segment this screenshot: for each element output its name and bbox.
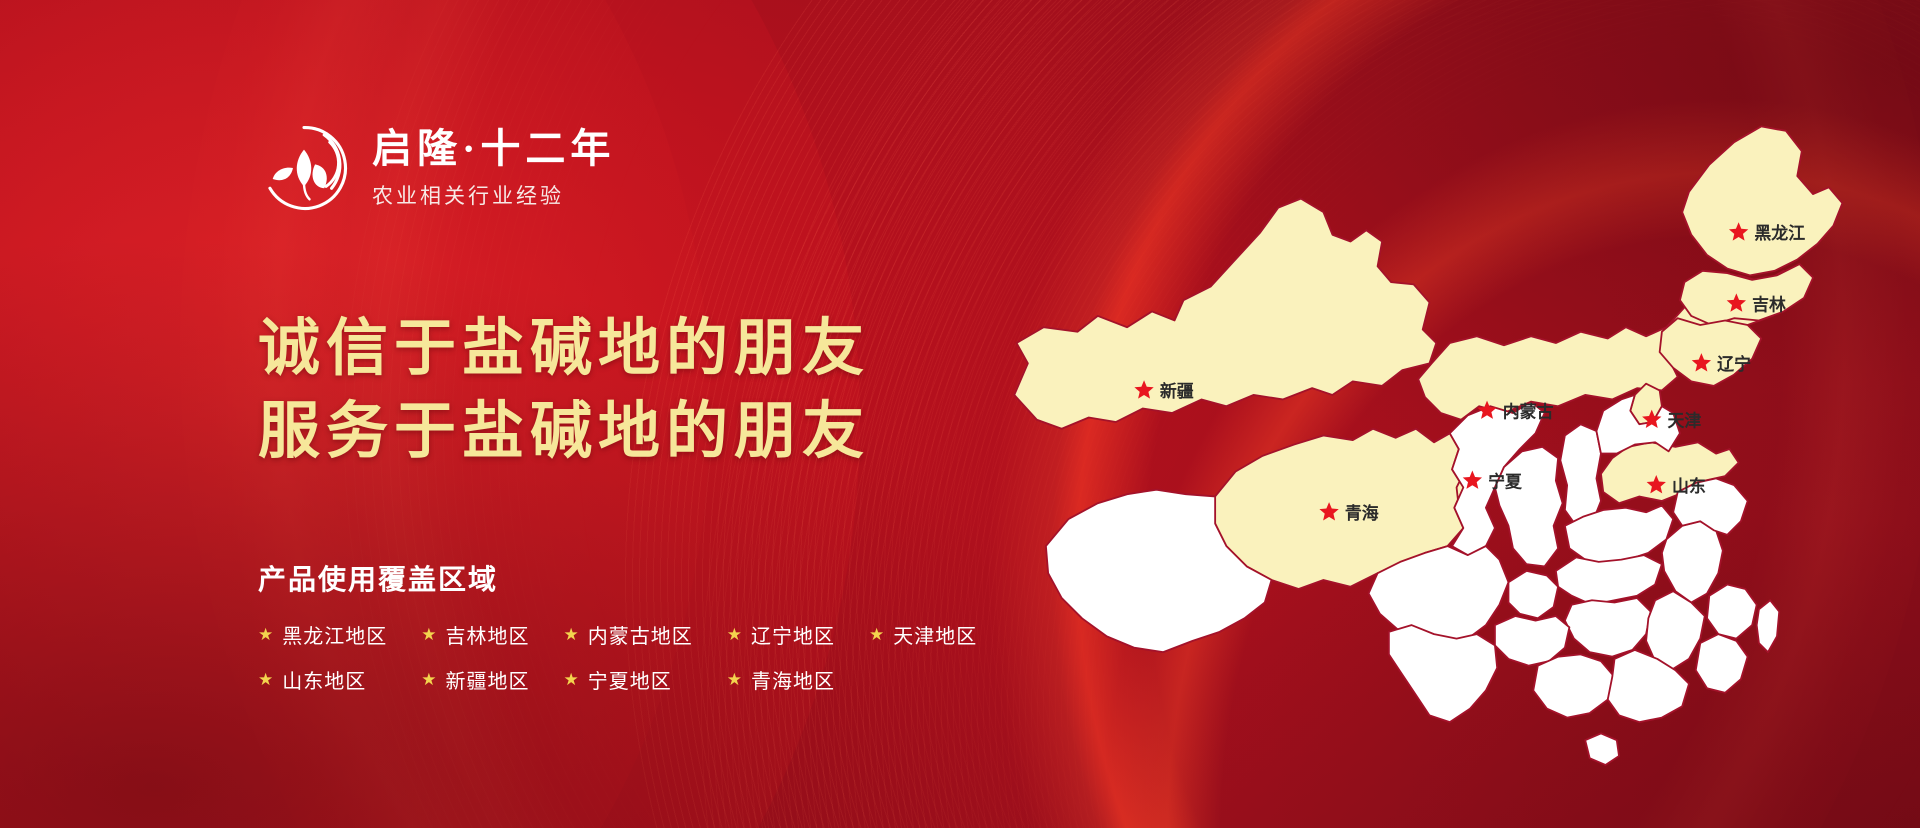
star-icon: ★: [421, 626, 436, 643]
star-icon: ★: [258, 671, 273, 688]
star-icon: ★: [258, 626, 273, 643]
coverage-region-item[interactable]: ★吉林地区: [421, 620, 529, 649]
brand-lockup: 启隆·十二年 农业相关行业经验: [258, 122, 615, 214]
coverage-region-label: 宁夏地区: [588, 665, 672, 694]
coverage-region-label: 黑龙江地区: [282, 620, 387, 649]
headline-line-1: 诚信于盐碱地的朋友: [258, 315, 870, 384]
map-marker-label: 新疆: [1160, 381, 1194, 401]
map-province-shapes: [1014, 126, 1842, 765]
coverage-region-item[interactable]: ★辽宁地区: [727, 620, 835, 649]
coverage-region-label: 山东地区: [282, 665, 366, 694]
star-icon: ★: [727, 671, 742, 688]
map-marker-label: 黑龙江: [1754, 223, 1805, 243]
coverage-region-label: 辽宁地区: [751, 620, 835, 649]
province-anhui: [1662, 521, 1723, 602]
coverage-region-label: 青海地区: [751, 665, 835, 694]
promo-banner: 启隆·十二年 农业相关行业经验 诚信于盐碱地的朋友 服务于盐碱地的朋友 产品使用…: [0, 0, 1920, 828]
province-zhejiang: [1707, 584, 1757, 638]
coverage-region-label: 天津地区: [893, 620, 977, 649]
map-marker-label: 辽宁: [1717, 354, 1751, 374]
brand-subtitle: 农业相关行业经验: [372, 180, 615, 210]
map-marker-label: 吉林: [1752, 294, 1786, 314]
coverage-region-item[interactable]: ★山东地区: [258, 665, 387, 694]
province-xinjiang: [1014, 199, 1436, 429]
coverage-region-item[interactable]: ★新疆地区: [421, 665, 529, 694]
province-chongqing: [1508, 571, 1558, 618]
star-icon: ★: [564, 626, 579, 643]
province-fujian: [1696, 634, 1748, 693]
star-icon: ★: [869, 626, 884, 643]
coverage-region-item[interactable]: ★内蒙古地区: [564, 620, 693, 649]
coverage-region-label: 内蒙古地区: [588, 620, 693, 649]
province-shanxi: [1560, 424, 1601, 526]
map-marker-label: 青海: [1345, 503, 1379, 523]
star-icon: ★: [727, 626, 742, 643]
coverage-region-item[interactable]: ★宁夏地区: [564, 665, 693, 694]
headline-block: 诚信于盐碱地的朋友 服务于盐碱地的朋友: [258, 315, 870, 468]
province-yunnan: [1389, 625, 1497, 722]
brand-text: 启隆·十二年 农业相关行业经验: [372, 126, 615, 210]
coverage-region-label: 新疆地区: [446, 665, 530, 694]
coverage-title: 产品使用覆盖区域: [258, 558, 918, 598]
coverage-region-list: ★黑龙江地区★吉林地区★内蒙古地区★辽宁地区★天津地区★山东地区★新疆地区★宁夏…: [258, 620, 918, 694]
province-hubei: [1556, 555, 1662, 605]
map-marker-label: 山东: [1672, 476, 1706, 496]
coverage-region-item[interactable]: ★黑龙江地区: [258, 620, 387, 649]
coverage-region-item[interactable]: ★青海地区: [727, 665, 835, 694]
china-coverage-map: 黑龙江吉林辽宁天津山东内蒙古宁夏新疆青海: [994, 52, 1874, 792]
coverage-region-label: 吉林地区: [446, 620, 530, 649]
province-taiwan: [1757, 600, 1780, 652]
headline-line-2: 服务于盐碱地的朋友: [258, 398, 870, 467]
star-icon: ★: [421, 671, 436, 688]
coverage-section: 产品使用覆盖区域 ★黑龙江地区★吉林地区★内蒙古地区★辽宁地区★天津地区★山东地…: [258, 558, 918, 694]
province-heilongjiang: [1682, 126, 1842, 275]
map-marker-label: 天津: [1668, 411, 1702, 431]
province-hainan: [1585, 733, 1619, 765]
brand-title: 启隆·十二年: [372, 126, 615, 172]
content-column: 启隆·十二年 农业相关行业经验 诚信于盐碱地的朋友 服务于盐碱地的朋友 产品使用…: [0, 0, 960, 828]
coverage-region-item[interactable]: ★天津地区: [869, 620, 977, 649]
star-icon: ★: [564, 671, 579, 688]
province-hunan: [1565, 598, 1651, 657]
lotus-leaf-emblem-icon: [258, 122, 350, 214]
map-marker-label: 内蒙古: [1503, 401, 1554, 421]
province-guangxi: [1533, 654, 1614, 717]
map-marker-label: 宁夏: [1488, 471, 1523, 491]
